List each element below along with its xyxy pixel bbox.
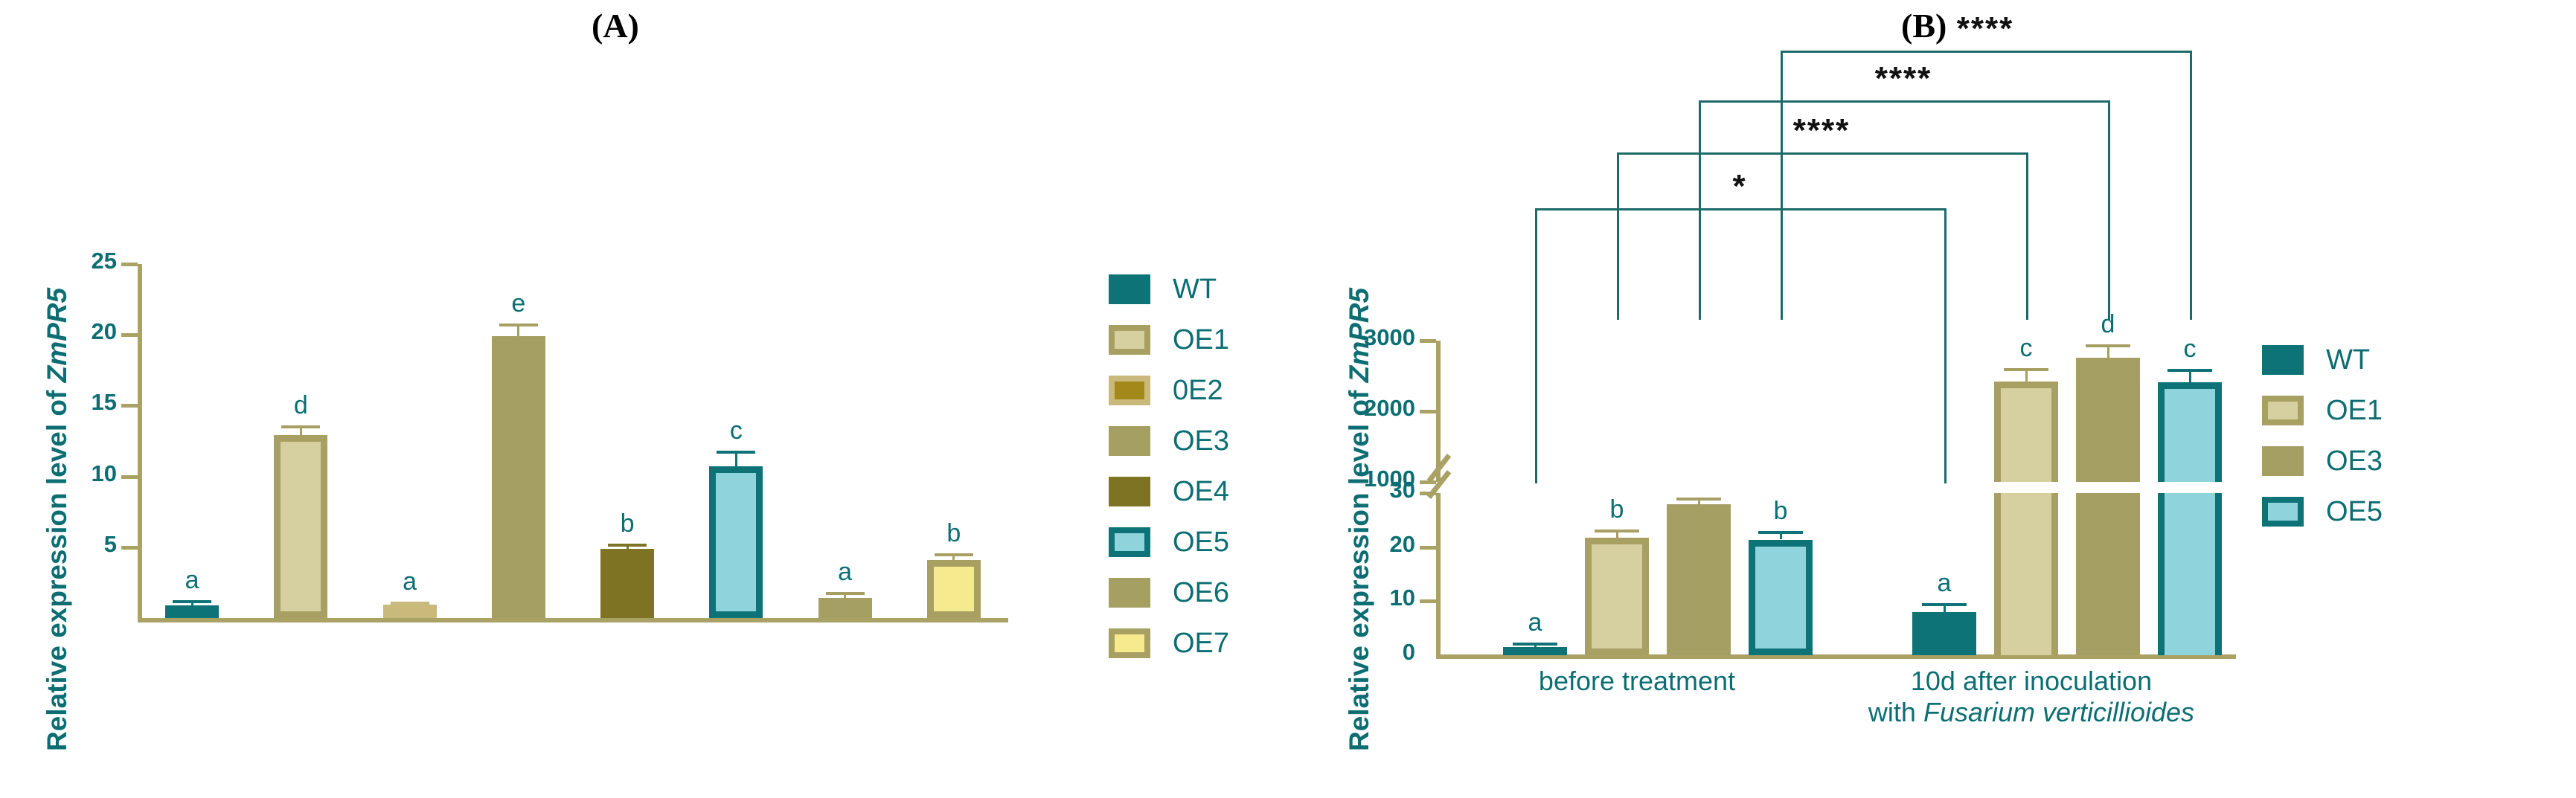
panel-a-bar [274, 435, 327, 618]
panel-a-annotation-letter: b [924, 519, 984, 548]
panel-a-legend-row[interactable]: OE5 [1109, 517, 1229, 567]
panel-a-bar [927, 560, 981, 618]
panel-a-legend-label: OE4 [1173, 476, 1229, 508]
panel-a-tick-label: 15 [48, 389, 117, 416]
panel-a-legend-row[interactable]: OE7 [1109, 618, 1229, 669]
panel-b-xcat-before: before treatment [1481, 666, 1793, 697]
panel-a-bars-group: adaebcab [138, 264, 1008, 618]
panel-a-annotation-letter: b [597, 509, 657, 538]
panel-a-legend-row[interactable]: OE1 [1109, 315, 1229, 365]
panel-a-legend-swatch [1109, 426, 1150, 456]
panel-a-tick-label: 20 [48, 318, 117, 345]
panel-b: Relative expression level of ZmPR5 01020… [1265, 0, 2576, 798]
panel-a-legend: WTOE10E2OE3OE4OE5OE6OE7 [1109, 264, 1229, 669]
panel-b-legend-label: WT [2326, 344, 2370, 376]
panel-a-bar [600, 549, 654, 618]
panel-a-error-bar-cap [173, 600, 211, 603]
panel-b-legend-row[interactable]: WT [2262, 335, 2383, 385]
panel-a-legend-label: OE6 [1173, 577, 1229, 609]
panel-a-legend-swatch [1109, 628, 1150, 658]
panel-a-legend-swatch [1109, 274, 1150, 304]
panel-b-legend-row[interactable]: OE1 [2262, 385, 2383, 436]
panel-a-legend-row[interactable]: OE4 [1109, 466, 1229, 517]
panel-a-annotation-letter: c [706, 416, 766, 445]
panel-b-legend-row[interactable]: OE5 [2262, 486, 2383, 537]
panel-a-legend-swatch [1109, 527, 1150, 557]
panel-a-bar [492, 336, 545, 618]
panel-a-legend-swatch [1109, 578, 1150, 608]
panel-a-legend-label: OE3 [1173, 425, 1229, 457]
panel-b-significance-bracket-right-tick [2190, 51, 2192, 320]
panel-a-error-bar-cap [826, 592, 865, 595]
panel-a-tick-label: 10 [48, 460, 117, 487]
panel-b-legend-label: OE1 [2326, 395, 2383, 427]
panel-b-xcat-after: 10d after inoculation with Fusarium vert… [1816, 666, 2247, 729]
panel-b-legend-label: OE5 [2326, 496, 2383, 528]
panel-b-significance-bracket-hbar [1781, 51, 2190, 53]
panel-b-legend-swatch [2262, 345, 2304, 375]
panel-b-significance-bracket-left-tick [1781, 51, 1783, 320]
panel-a-legend-row[interactable]: OE6 [1109, 567, 1229, 618]
panel-a-tick-mark [121, 404, 138, 408]
panel-b-legend-swatch [2262, 497, 2304, 527]
panel-b-xcat-after-line2: with Fusarium verticillioides [1816, 697, 2247, 728]
panel-a-y-axis-title-prefix: Relative expression level of [42, 382, 72, 751]
panel-a-tick-mark [121, 475, 138, 479]
panel-a-bar [818, 598, 872, 618]
panel-a-annotation-letter: a [816, 558, 875, 587]
panel-b-legend-swatch [2262, 396, 2304, 425]
panel-a-annotation-letter: e [489, 289, 548, 318]
panel-a-annotation-letter: a [162, 566, 222, 595]
panel-a-x-axis-line [138, 618, 1008, 622]
panel-a-annotation-letter: a [380, 567, 440, 596]
panel-a-error-bar-cap [717, 451, 755, 454]
panel-a-legend-swatch [1109, 325, 1150, 355]
panel-a-legend-swatch [1109, 376, 1150, 405]
panel-a-annotation-letter: d [271, 391, 330, 420]
panel-b-xcat-after-line2-prefix: with [1868, 697, 1923, 727]
panel-b-significance-stars: **** [1903, 10, 2067, 48]
panel-a-bar [383, 605, 437, 618]
panel-b-legend-swatch [2262, 446, 2304, 476]
figure-root: (A) (B) Relative expression level of ZmP… [0, 0, 2576, 798]
panel-a-bar [709, 466, 763, 618]
panel-a-tick-mark [121, 546, 138, 550]
panel-a-y-axis-title: Relative expression level of ZmPR5 [42, 288, 73, 751]
panel-b-legend-label: OE3 [2326, 445, 2383, 477]
panel-a-error-bar-cap [281, 425, 320, 428]
panel-a-legend-label: WT [1173, 274, 1217, 306]
panel-b-legend: WTOE1OE3OE5 [2262, 335, 2383, 537]
panel-a-error-bar-cap [499, 324, 538, 326]
panel-a-tick-mark [121, 263, 138, 266]
panel-a-error-bar-cap [608, 544, 647, 547]
panel-a-legend-label: 0E2 [1173, 375, 1223, 407]
panel-b-xcat-after-line1: 10d after inoculation [1816, 666, 2247, 697]
panel-a-legend-label: OE7 [1173, 628, 1229, 660]
panel-a-tick-label: 5 [48, 531, 117, 558]
panel-a-legend-row[interactable]: 0E2 [1109, 365, 1229, 416]
panel-a-legend-label: OE5 [1173, 527, 1229, 559]
panel-a-legend-row[interactable]: OE3 [1109, 416, 1229, 466]
panel-a-legend-row[interactable]: WT [1109, 264, 1229, 315]
panel-a-tick-mark [121, 333, 138, 337]
panel-a-legend-swatch [1109, 477, 1150, 506]
panel-b-legend-row[interactable]: OE3 [2262, 436, 2383, 486]
panel-a-error-bar-cap [391, 602, 429, 605]
panel-a-error-bar-cap [935, 553, 973, 556]
panel-a: Relative expression level of ZmPR5 51015… [0, 0, 1265, 798]
panel-a-bar [165, 605, 219, 618]
panel-a-legend-label: OE1 [1173, 324, 1229, 356]
panel-b-xcat-after-line2-species: Fusarium verticillioides [1923, 697, 2194, 727]
panel-a-tick-label: 25 [48, 248, 117, 274]
